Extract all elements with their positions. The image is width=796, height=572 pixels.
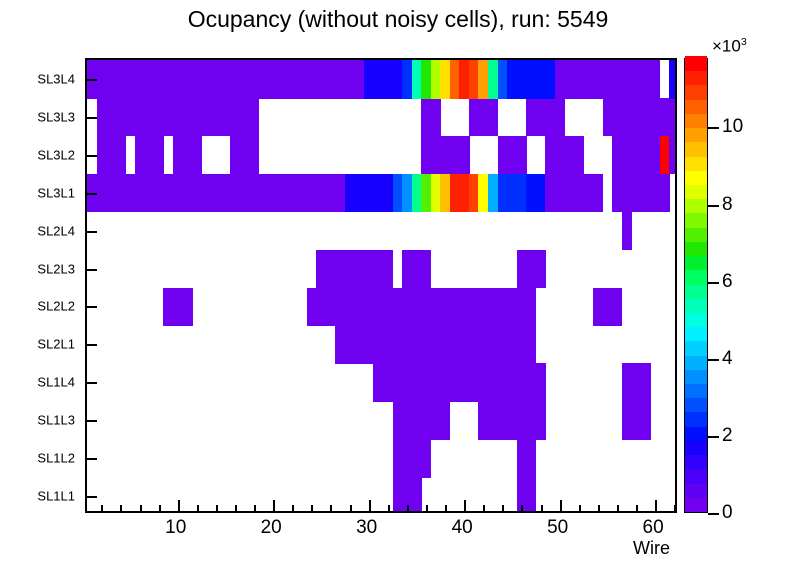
heatmap-cell — [97, 136, 126, 175]
heatmap-cell — [335, 325, 536, 364]
colorbar-segment — [685, 327, 707, 342]
heatmap-cell — [421, 136, 469, 175]
x-axis-minor-tick — [541, 505, 543, 511]
colorbar — [684, 58, 708, 513]
colorbar-segment — [685, 241, 707, 256]
heatmap-cell — [498, 136, 527, 175]
heatmap-cell — [345, 174, 393, 213]
heatmap-cell — [421, 98, 441, 137]
colorbar-tick — [708, 359, 719, 361]
colorbar-segment — [685, 199, 707, 214]
heatmap-cell — [603, 98, 675, 137]
colorbar-segment — [685, 440, 707, 455]
y-axis-tick — [87, 420, 97, 422]
colorbar-segment — [685, 497, 707, 512]
x-axis-minor-tick — [388, 505, 390, 511]
heatmap-cell — [402, 250, 431, 289]
x-axis-minor-tick — [598, 505, 600, 511]
colorbar-tick — [708, 205, 719, 207]
colorbar-segment — [685, 383, 707, 398]
colorbar-tick — [708, 282, 719, 284]
heatmap-cell — [517, 250, 546, 289]
y-axis-tick-label: SL3L4 — [37, 71, 75, 86]
y-axis-tick-label: SL2L1 — [37, 337, 75, 352]
y-axis-tick — [87, 231, 97, 233]
x-axis-minor-tick — [636, 505, 638, 511]
y-axis-tick — [87, 306, 97, 308]
heatmap-cell — [526, 98, 565, 137]
colorbar-segment — [685, 426, 707, 441]
x-axis-minor-tick — [216, 505, 218, 511]
colorbar-segment — [685, 298, 707, 313]
colorbar-segment — [685, 255, 707, 270]
y-axis-tick — [87, 117, 97, 119]
colorbar-segment — [685, 369, 707, 384]
colorbar-segment — [685, 412, 707, 427]
colorbar-segment — [685, 156, 707, 171]
x-axis-minor-tick — [197, 505, 199, 511]
heatmap-cell — [669, 60, 675, 99]
heatmap-plot-frame: SL3L4SL3L3SL3L2SL3L1SL2L4SL2L3SL2L2SL2L1… — [85, 58, 677, 513]
y-axis-tick — [87, 382, 97, 384]
x-axis-minor-tick — [579, 505, 581, 511]
heatmap-cell — [507, 60, 555, 99]
x-axis-minor-tick — [140, 505, 142, 511]
colorbar-exponent: 3 — [741, 36, 747, 48]
heatmap-cell — [97, 98, 260, 137]
x-axis-tick-label: 20 — [261, 517, 282, 539]
colorbar-tick-label: 0 — [722, 502, 733, 524]
heatmap-cell — [622, 363, 651, 402]
heatmap-cell — [526, 174, 546, 213]
colorbar-multiplier: ×103 — [712, 36, 747, 57]
heatmap-cell — [669, 136, 675, 175]
heatmap-cell — [555, 60, 661, 99]
heatmap-cell — [478, 401, 545, 440]
x-axis-minor-tick — [311, 505, 313, 511]
heatmap-cell — [373, 363, 545, 402]
heatmap-cell — [393, 401, 451, 440]
heatmap-cell — [622, 401, 651, 440]
colorbar-tick-label: 10 — [722, 116, 743, 138]
x-axis-minor-tick — [120, 505, 122, 511]
heatmap-cell — [135, 136, 164, 175]
x-axis-minor-tick — [483, 505, 485, 511]
colorbar-segment — [685, 85, 707, 100]
x-axis-minor-tick — [254, 505, 256, 511]
colorbar-segment — [685, 56, 707, 71]
heatmap-cell — [612, 174, 670, 213]
colorbar-segment — [685, 483, 707, 498]
heatmap-cell — [517, 439, 537, 478]
heatmap-cells — [87, 60, 675, 511]
colorbar-segment — [685, 213, 707, 228]
y-axis-tick-label: SL2L3 — [37, 261, 75, 276]
y-axis-tick — [87, 496, 97, 498]
colorbar-segment — [685, 270, 707, 285]
x-axis-major-tick — [369, 500, 371, 511]
x-axis-tick-label: 50 — [547, 517, 568, 539]
colorbar-segment — [685, 284, 707, 299]
x-axis-major-tick — [178, 500, 180, 511]
heatmap-cell — [517, 477, 537, 511]
heatmap-cell — [593, 288, 622, 327]
y-axis-tick — [87, 155, 97, 157]
y-axis-tick-label: SL1L4 — [37, 375, 75, 390]
heatmap-cell — [393, 439, 432, 478]
x-axis-major-tick — [273, 500, 275, 511]
root-canvas: Ocupancy (without noisy cells), run: 554… — [0, 0, 796, 572]
colorbar-segment — [685, 312, 707, 327]
x-axis-minor-tick — [674, 505, 676, 511]
x-axis-minor-tick — [445, 505, 447, 511]
heatmap-cell — [316, 250, 393, 289]
colorbar-segment — [685, 170, 707, 185]
colorbar-tick — [708, 513, 719, 515]
heatmap-cell — [498, 174, 527, 213]
page-title: Ocupancy (without noisy cells), run: 554… — [0, 6, 796, 33]
x-axis-tick-label: 10 — [165, 517, 186, 539]
colorbar-segment — [685, 128, 707, 143]
x-axis-minor-tick — [502, 505, 504, 511]
heatmap-cell — [364, 60, 403, 99]
x-axis-minor-tick — [330, 505, 332, 511]
colorbar-segment — [685, 227, 707, 242]
y-axis-tick — [87, 79, 97, 81]
x-axis-minor-tick — [235, 505, 237, 511]
y-axis-tick-label: SL1L2 — [37, 451, 75, 466]
y-axis-tick-label: SL2L4 — [37, 223, 75, 238]
y-axis-tick-label: SL3L3 — [37, 109, 75, 124]
colorbar-segment — [685, 341, 707, 356]
heatmap-cell — [450, 174, 470, 213]
heatmap-cell — [87, 174, 345, 213]
heatmap-cell — [173, 136, 202, 175]
colorbar-segment — [685, 113, 707, 128]
colorbar-tick-label: 4 — [722, 348, 733, 370]
heatmap-cell — [622, 212, 632, 251]
x-axis-title: Wire — [633, 538, 670, 559]
colorbar-segment — [685, 398, 707, 413]
colorbar-tick-label: 6 — [722, 271, 733, 293]
colorbar-tick — [708, 127, 719, 129]
x-axis-major-tick — [560, 500, 562, 511]
x-axis-minor-tick — [407, 505, 409, 511]
x-axis-tick-label: 40 — [452, 517, 473, 539]
colorbar-tick — [708, 436, 719, 438]
y-axis-tick — [87, 269, 97, 271]
x-axis-minor-tick — [292, 505, 294, 511]
x-axis-minor-tick — [101, 505, 103, 511]
colorbar-tick-label: 2 — [722, 425, 733, 447]
x-axis-minor-tick — [159, 505, 161, 511]
colorbar-segment — [685, 355, 707, 370]
y-axis-tick — [87, 193, 97, 195]
x-axis-major-tick — [655, 500, 657, 511]
x-axis-minor-tick — [521, 505, 523, 511]
colorbar-segment — [685, 71, 707, 86]
colorbar-segment — [685, 184, 707, 199]
y-axis-tick-label: SL3L2 — [37, 147, 75, 162]
x-axis-minor-tick — [426, 505, 428, 511]
x-axis-minor-tick — [350, 505, 352, 511]
y-axis-tick-label: SL3L1 — [37, 185, 75, 200]
heatmap-cell — [545, 174, 603, 213]
heatmap-cell — [612, 136, 660, 175]
colorbar-segment — [685, 99, 707, 114]
colorbar-segment — [685, 142, 707, 157]
y-axis-tick — [87, 458, 97, 460]
x-axis-tick-label: 30 — [356, 517, 377, 539]
heatmap-cell — [469, 98, 498, 137]
heatmap-cell — [307, 288, 537, 327]
y-axis-tick-label: SL1L1 — [37, 489, 75, 504]
heatmap-cell — [230, 136, 259, 175]
heatmap-cell — [163, 288, 192, 327]
colorbar-segment — [685, 469, 707, 484]
x-axis-minor-tick — [617, 505, 619, 511]
colorbar-tick-label: 8 — [722, 194, 733, 216]
y-axis-tick — [87, 344, 97, 346]
colorbar-segment — [685, 455, 707, 470]
x-axis-tick-label: 60 — [643, 517, 664, 539]
heatmap-cell — [545, 136, 584, 175]
y-axis-tick-label: SL1L3 — [37, 413, 75, 428]
y-axis-tick-label: SL2L2 — [37, 299, 75, 314]
x-axis-major-tick — [464, 500, 466, 511]
heatmap-cell — [87, 60, 365, 99]
